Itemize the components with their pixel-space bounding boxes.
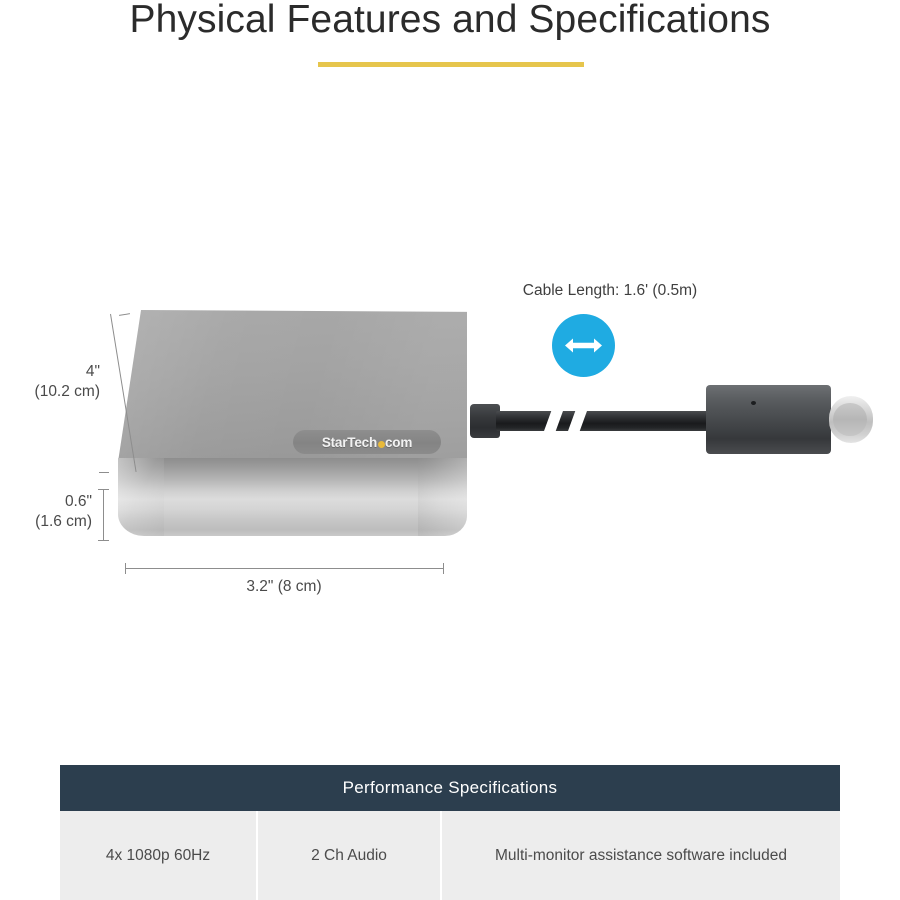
product-illustration: StarTechcom Cable Length: 1.6' (0.5m) 4"… (0, 250, 900, 650)
height-dimension-label: 0.6" (1.6 cm) (8, 492, 92, 532)
page-header: Physical Features and Specifications (0, 0, 900, 95)
width-dimension-line (125, 568, 443, 569)
usb-c-connector-housing (706, 385, 831, 454)
double-arrow-icon (552, 314, 615, 377)
yellow-dot-icon (378, 441, 385, 448)
page-title: Physical Features and Specifications (0, 0, 900, 42)
height-value-metric: (1.6 cm) (8, 512, 92, 532)
adapter-front-right-highlight (418, 458, 467, 536)
spec-cell-software: Multi-monitor assistance software includ… (442, 811, 840, 900)
height-dimension-line (103, 489, 104, 540)
depth-dimension-label: 4" (10.2 cm) (8, 362, 100, 402)
depth-value-imperial: 4" (8, 362, 100, 382)
spec-table-header: Performance Specifications (60, 765, 840, 811)
cable-length-label: Cable Length: 1.6' (0.5m) (430, 282, 790, 300)
width-dimension-label: 3.2" (8 cm) (125, 577, 443, 597)
height-dimension-cap-top (98, 489, 109, 490)
depth-value-metric: (10.2 cm) (8, 382, 100, 402)
startech-logo-badge: StarTechcom (293, 430, 441, 454)
width-dimension-cap-right (443, 563, 444, 574)
height-value-imperial: 0.6" (8, 492, 92, 512)
usb-c-housing-pinhole (751, 401, 756, 405)
logo-text-after-dot: com (385, 435, 412, 450)
spec-cell-resolution: 4x 1080p 60Hz (60, 811, 256, 900)
startech-logo-text: StarTechcom (322, 435, 412, 450)
adapter-body: StarTechcom (118, 310, 478, 535)
performance-specifications-table: Performance Specifications 4x 1080p 60Hz… (60, 765, 840, 900)
depth-dimension-cap-bottom (99, 472, 109, 473)
spec-cell-audio: 2 Ch Audio (258, 811, 440, 900)
product-spec-page: Physical Features and Specifications Sta… (0, 0, 900, 900)
logo-text-before-dot: StarTech (322, 435, 377, 450)
adapter-front-left-highlight (118, 458, 164, 536)
spec-table-row: 4x 1080p 60Hz 2 Ch Audio Multi-monitor a… (60, 811, 840, 900)
title-underline-accent (318, 62, 584, 67)
adapter-front-edge (118, 458, 467, 536)
cable-length-badge (552, 314, 615, 377)
width-dimension-cap-left (125, 563, 126, 574)
height-dimension-cap-bottom (98, 540, 109, 541)
usb-c-connector-tip-inner (833, 403, 867, 436)
cable (496, 411, 711, 431)
